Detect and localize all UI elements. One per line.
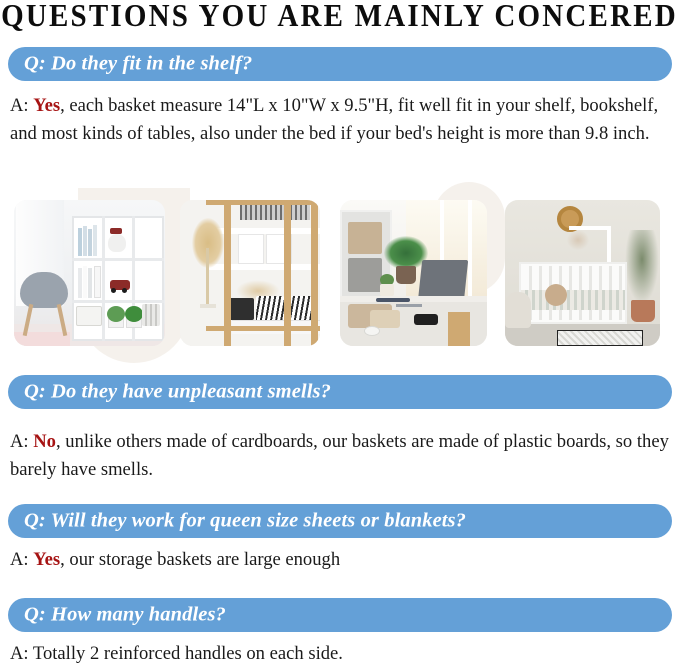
answer-3-highlight: Yes (33, 549, 60, 570)
answer-3-prefix: A: (10, 549, 33, 570)
answer-1-rest: , each basket measure 14"L x 10"W x 9.5"… (10, 95, 658, 144)
question-text-3: Q: Will they work for queen size sheets … (24, 510, 466, 533)
question-text-1: Q: Do they fit in the shelf? (24, 53, 252, 76)
answer-2-prefix: A: (10, 431, 33, 452)
photo-bookshelf (14, 200, 165, 346)
question-bar-2[interactable]: Q: Do they have unpleasant smells? (8, 375, 672, 409)
photo-bunk-bed (180, 200, 320, 346)
answer-4: A: Totally 2 reinforced handles on each … (10, 640, 670, 668)
photo-nursery (505, 200, 660, 346)
answer-4-prefix: A: Totally 2 reinforced handles on each … (10, 643, 343, 664)
answer-1-highlight: Yes (33, 95, 60, 116)
answer-3-rest: , our storage baskets are large enough (60, 549, 340, 570)
answer-2-highlight: No (33, 431, 56, 452)
answer-2: A: No, unlike others made of cardboards,… (10, 428, 670, 484)
question-bar-3[interactable]: Q: Will they work for queen size sheets … (8, 504, 672, 538)
answer-1: A: Yes, each basket measure 14"L x 10"W … (10, 92, 670, 148)
question-bar-4[interactable]: Q: How many handles? (8, 598, 672, 632)
question-text-4: Q: How many handles? (24, 604, 226, 627)
answer-2-rest: , unlike others made of cardboards, our … (10, 431, 669, 480)
answer-3: A: Yes, our storage baskets are large en… (10, 546, 670, 574)
answer-1-prefix: A: (10, 95, 33, 116)
page-title: QUESTIONS YOU ARE MAINLY CONCERED (0, 0, 679, 37)
question-text-2: Q: Do they have unpleasant smells? (24, 381, 331, 404)
question-bar-1[interactable]: Q: Do they fit in the shelf? (8, 47, 672, 81)
photo-home-office (340, 200, 487, 346)
